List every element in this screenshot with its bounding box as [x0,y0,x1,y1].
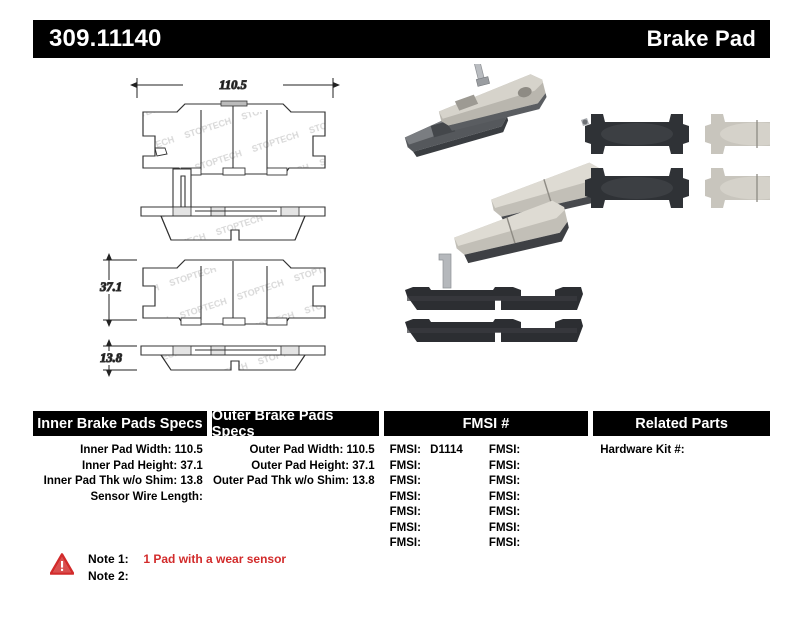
fmsi-row: FMSI: [489,459,588,475]
dim-width-label: 110.5 [219,78,246,92]
outer-spec-value-1: 37.1 [352,460,374,472]
fmsi-right-label-1: FMSI: [489,460,520,472]
fmsi-row: FMSI: [489,443,588,459]
fmsi-column: FMSI: D1114 FMSI: FMSI: FMSI: [384,443,589,552]
fmsi-left-label-4: FMSI: [390,506,421,518]
dim-thickness-label: 13.8 [100,351,123,365]
fmsi-left-label-0: FMSI: [390,444,421,456]
fmsi-row: FMSI: [390,490,489,506]
note-2-row: Note 2: [88,568,286,585]
notes-section: Note 1: 1 Pad with a wear sensor Note 2: [50,551,286,585]
outer-spec-row: Outer Pad Height: 37.1 [212,459,379,475]
outer-spec-row: Outer Pad Width: 110.5 [212,443,379,459]
fmsi-left-label-6: FMSI: [390,537,421,549]
inner-spec-label-2: Inner Pad Thk w/o Shim: [44,475,178,487]
header-outer-specs: Outer Brake Pads Specs [212,411,379,436]
fmsi-right-label-4: FMSI: [489,506,520,518]
related-parts-column: Hardware Kit #: [593,443,770,552]
fmsi-right-label-5: FMSI: [489,522,520,534]
note-1-value: 1 Pad with a wear sensor [143,552,286,566]
spec-sheet-page: 309.11140 Brake Pad STOPTECH [0,0,800,619]
pad-side-view-with-sensor [141,169,325,240]
specs-table: Inner Brake Pads Specs Outer Brake Pads … [33,411,770,552]
fmsi-row: FMSI: [489,474,588,490]
fmsi-left-value-0: D1114 [430,444,463,456]
note-1-row: Note 1: 1 Pad with a wear sensor [88,551,286,568]
fmsi-subcolumn-left: FMSI: D1114 FMSI: FMSI: FMSI: [390,443,489,552]
header-inner-specs: Inner Brake Pads Specs [33,411,207,436]
product-type: Brake Pad [647,26,756,52]
fmsi-row: FMSI: [489,521,588,537]
product-photo-angled-set [401,64,608,265]
fmsi-row: FMSI: [390,536,489,552]
fmsi-row: FMSI: D1114 [390,443,489,459]
header-fmsi: FMSI # [384,411,589,436]
note-lines: Note 1: 1 Pad with a wear sensor Note 2: [88,551,286,585]
outer-spec-value-2: 13.8 [352,475,374,487]
inner-spec-row: Inner Pad Height: 37.1 [33,459,207,475]
product-photo-edge-set [405,254,583,342]
inner-spec-label-0: Inner Pad Width: [80,444,171,456]
fmsi-subcolumn-right: FMSI: FMSI: FMSI: FMSI: [489,443,588,552]
technical-drawings-svg: STOPTECH 110.5 [33,64,770,394]
related-part-row: Hardware Kit #: [593,443,770,459]
table-header-row: Inner Brake Pads Specs Outer Brake Pads … [33,411,770,436]
inner-spec-row: Sensor Wire Length: [33,490,207,506]
dim-height-label: 37.1 [99,280,122,294]
fmsi-row: FMSI: [489,490,588,506]
table-body-row: Inner Pad Width: 110.5 Inner Pad Height:… [33,443,770,552]
part-number: 309.11140 [49,25,162,53]
fmsi-left-label-1: FMSI: [390,460,421,472]
warning-triangle-icon [50,553,74,575]
inner-spec-value-0: 110.5 [175,444,203,456]
pad-face-view-top: 110.5 [137,78,333,175]
fmsi-row: FMSI: [390,505,489,521]
fmsi-row: FMSI: [390,474,489,490]
fmsi-row: FMSI: [390,521,489,537]
inner-spec-label-1: Inner Pad Height: [82,460,177,472]
outer-spec-value-0: 110.5 [346,444,374,456]
note-1-label: Note 1: [88,551,136,568]
title-bar: 309.11140 Brake Pad [33,20,770,58]
fmsi-right-label-0: FMSI: [489,444,520,456]
wear-sensor-clip [173,169,191,209]
inner-specs-column: Inner Pad Width: 110.5 Inner Pad Height:… [33,443,207,552]
outer-spec-row [212,490,379,506]
hardware-kit-label: Hardware Kit #: [600,444,684,456]
fmsi-left-label-5: FMSI: [390,522,421,534]
outer-specs-column: Outer Pad Width: 110.5 Outer Pad Height:… [212,443,379,552]
product-photo-flat-set [581,114,770,208]
fmsi-row: FMSI: [390,459,489,475]
outer-spec-row: Outer Pad Thk w/o Shim: 13.8 [212,474,379,490]
inner-spec-row: Inner Pad Thk w/o Shim: 13.8 [33,474,207,490]
inner-spec-label-3: Sensor Wire Length: [90,491,202,503]
pad-face-view-bottom: 37.1 [95,260,325,325]
fmsi-row: FMSI: [489,536,588,552]
inner-spec-row: Inner Pad Width: 110.5 [33,443,207,459]
inner-spec-value-1: 37.1 [180,460,202,472]
inner-spec-value-2: 13.8 [180,475,202,487]
fmsi-right-label-3: FMSI: [489,491,520,503]
drawings-region: STOPTECH 110.5 [33,64,770,394]
outer-spec-label-1: Outer Pad Height: [251,460,349,472]
fmsi-right-label-6: FMSI: [489,537,520,549]
fmsi-left-label-3: FMSI: [390,491,421,503]
header-related-parts: Related Parts [593,411,770,436]
outer-spec-label-0: Outer Pad Width: [249,444,343,456]
note-2-label: Note 2: [88,568,136,585]
pad-edge-view-thickness: 13.8 [93,346,325,370]
fmsi-left-label-2: FMSI: [390,475,421,487]
fmsi-row: FMSI: [489,505,588,521]
outer-spec-label-2: Outer Pad Thk w/o Shim: [213,475,349,487]
fmsi-right-label-2: FMSI: [489,475,520,487]
